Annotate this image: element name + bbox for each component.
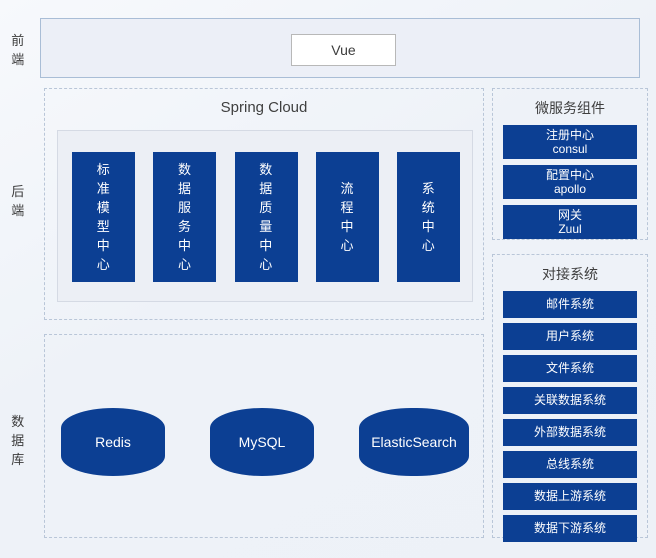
tier-label-database: 数 据 库 — [0, 412, 36, 469]
integration-item-downstream-data-system[interactable]: 数据下游系统 — [503, 515, 637, 542]
tier-label-backend-char-1: 端 — [0, 201, 36, 220]
char: 中 — [97, 236, 111, 255]
tier-label-frontend-char-0: 前 — [0, 31, 36, 50]
microservice-components-title: 微服务组件 — [493, 98, 647, 118]
tier-label-database-char-0: 数 — [0, 412, 36, 431]
service-box-process-center-label: 流 程 中 心 — [340, 179, 354, 255]
tier-label-frontend: 前 端 — [0, 31, 36, 69]
microservice-item-config-impl: apollo — [503, 182, 637, 196]
char: 数 — [259, 160, 273, 179]
tier-label-database-char-1: 据 — [0, 431, 36, 450]
char: 据 — [178, 179, 192, 198]
integration-item-linked-data-system[interactable]: 关联数据系统 — [503, 387, 637, 414]
char: 模 — [97, 198, 111, 217]
char: 务 — [178, 217, 192, 236]
service-box-system-center[interactable]: 系 统 中 心 — [397, 152, 460, 282]
microservice-item-gateway[interactable]: 网关 Zuul — [503, 205, 637, 239]
char: 心 — [259, 255, 273, 274]
integration-systems-title: 对接系统 — [493, 264, 647, 284]
service-box-data-service-center-label: 数 据 服 务 中 心 — [178, 160, 192, 274]
integration-item-external-data-system[interactable]: 外部数据系统 — [503, 419, 637, 446]
service-box-data-quality-center[interactable]: 数 据 质 量 中 心 — [235, 152, 298, 282]
microservice-item-config-name: 配置中心 — [546, 168, 594, 182]
database-cylinder-mysql[interactable]: MySQL — [210, 408, 314, 476]
integration-item-file-system[interactable]: 文件系统 — [503, 355, 637, 382]
database-row: Redis MySQL ElasticSearch — [61, 408, 469, 476]
service-box-process-center[interactable]: 流 程 中 心 — [316, 152, 379, 282]
service-box-system-center-label: 系 统 中 心 — [422, 179, 436, 255]
tier-label-frontend-char-1: 端 — [0, 50, 36, 69]
integration-item-upstream-data-system[interactable]: 数据上游系统 — [503, 483, 637, 510]
frontend-panel: Vue — [40, 18, 640, 78]
microservice-components-list: 注册中心 consul 配置中心 apollo 网关 Zuul — [493, 125, 647, 253]
integration-systems-list: 邮件系统 用户系统 文件系统 关联数据系统 外部数据系统 总线系统 数据上游系统… — [493, 291, 647, 555]
char: 心 — [178, 255, 192, 274]
char: 心 — [340, 236, 354, 255]
char: 标 — [97, 160, 111, 179]
integration-systems-panel: 对接系统 邮件系统 用户系统 文件系统 关联数据系统 外部数据系统 总线系统 数… — [492, 254, 648, 538]
node-vue[interactable]: Vue — [291, 34, 396, 66]
spring-cloud-region: Spring Cloud 标 准 模 型 中 心 数 据 服 务 — [44, 88, 484, 320]
spring-cloud-inner-panel: 标 准 模 型 中 心 数 据 服 务 中 心 — [57, 130, 473, 302]
integration-item-mail-system[interactable]: 邮件系统 — [503, 291, 637, 318]
char: 量 — [259, 217, 273, 236]
char: 中 — [340, 217, 354, 236]
microservice-item-config[interactable]: 配置中心 apollo — [503, 165, 637, 199]
tier-label-database-char-2: 库 — [0, 450, 36, 469]
service-box-standard-model-center-label: 标 准 模 型 中 心 — [97, 160, 111, 274]
char: 程 — [340, 198, 354, 217]
spring-cloud-title: Spring Cloud — [45, 99, 483, 116]
char: 心 — [97, 255, 111, 274]
microservice-item-registry-name: 注册中心 — [546, 128, 594, 142]
char: 中 — [422, 217, 436, 236]
service-box-data-quality-center-label: 数 据 质 量 中 心 — [259, 160, 273, 274]
microservice-item-registry[interactable]: 注册中心 consul — [503, 125, 637, 159]
char: 准 — [97, 179, 111, 198]
char: 质 — [259, 198, 273, 217]
char: 心 — [422, 236, 436, 255]
char: 中 — [259, 236, 273, 255]
microservice-item-gateway-impl: Zuul — [503, 222, 637, 236]
char: 统 — [422, 198, 436, 217]
tier-label-backend-char-0: 后 — [0, 182, 36, 201]
char: 流 — [340, 179, 354, 198]
char: 数 — [178, 160, 192, 179]
integration-item-user-system[interactable]: 用户系统 — [503, 323, 637, 350]
char: 据 — [259, 179, 273, 198]
char: 型 — [97, 217, 111, 236]
char: 服 — [178, 198, 192, 217]
tier-label-backend: 后 端 — [0, 182, 36, 220]
microservice-item-registry-impl: consul — [503, 142, 637, 156]
service-box-data-service-center[interactable]: 数 据 服 务 中 心 — [153, 152, 216, 282]
database-cylinder-elasticsearch[interactable]: ElasticSearch — [359, 408, 469, 476]
char: 中 — [178, 236, 192, 255]
tier-label-column: 前 端 后 端 数 据 库 — [0, 0, 36, 558]
service-box-standard-model-center[interactable]: 标 准 模 型 中 心 — [72, 152, 135, 282]
service-box-row: 标 准 模 型 中 心 数 据 服 务 中 心 — [72, 152, 460, 282]
char: 系 — [422, 179, 436, 198]
microservice-components-panel: 微服务组件 注册中心 consul 配置中心 apollo 网关 Zuul — [492, 88, 648, 240]
database-region: Redis MySQL ElasticSearch — [44, 334, 484, 538]
microservice-item-gateway-name: 网关 — [558, 208, 582, 222]
integration-item-bus-system[interactable]: 总线系统 — [503, 451, 637, 478]
database-cylinder-redis[interactable]: Redis — [61, 408, 165, 476]
